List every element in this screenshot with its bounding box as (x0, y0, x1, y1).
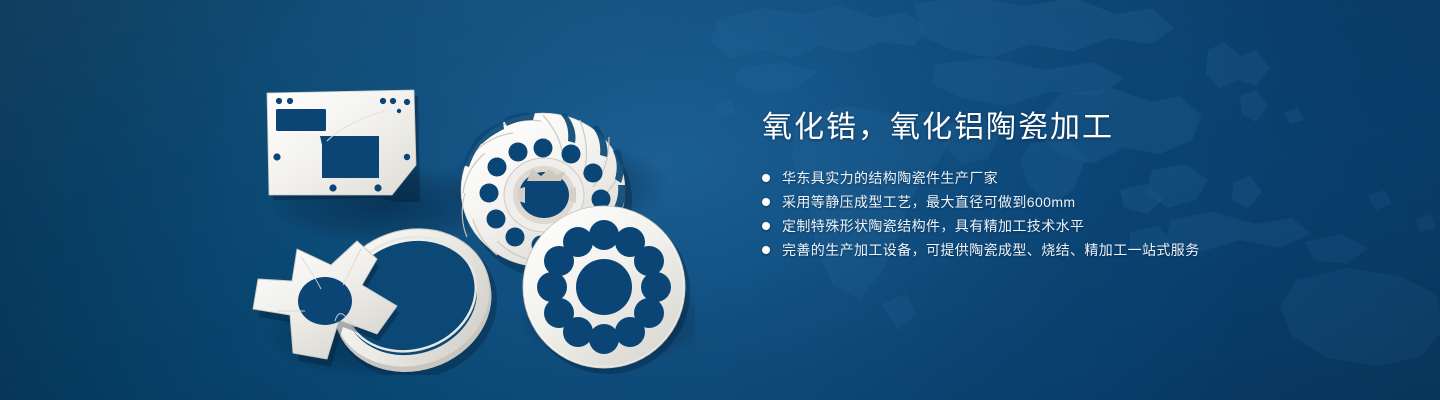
bullet-dot-icon (762, 246, 770, 254)
list-item-label: 华东具实力的结构陶瓷件生产厂家 (782, 166, 998, 190)
bullet-dot-icon (762, 198, 770, 206)
list-item-label: 定制特殊形状陶瓷结构件，具有精加工技术水平 (782, 214, 1084, 238)
promo-banner: 氧化锆，氧化铝陶瓷加工 华东具实力的结构陶瓷件生产厂家 采用等静压成型工艺，最大… (0, 0, 1440, 400)
list-item-label: 采用等静压成型工艺，最大直径可做到600mm (782, 190, 1075, 214)
page-title: 氧化锆，氧化铝陶瓷加工 (762, 108, 1382, 148)
ceramic-plate-part (267, 90, 420, 202)
list-item: 华东具实力的结构陶瓷件生产厂家 (762, 166, 1382, 190)
list-item: 完善的生产加工设备，可提供陶瓷成型、烧结、精加工一站式服务 (762, 238, 1382, 262)
bullet-dot-icon (762, 174, 770, 182)
feature-list: 华东具实力的结构陶瓷件生产厂家 采用等静压成型工艺，最大直径可做到600mm 定… (762, 166, 1382, 262)
bullet-dot-icon (762, 222, 770, 230)
ceramic-products-image (235, 45, 695, 375)
list-item: 定制特殊形状陶瓷结构件，具有精加工技术水平 (762, 214, 1382, 238)
banner-copy: 氧化锆，氧化铝陶瓷加工 华东具实力的结构陶瓷件生产厂家 采用等静压成型工艺，最大… (762, 108, 1382, 262)
list-item: 采用等静压成型工艺，最大直径可做到600mm (762, 190, 1382, 214)
list-item-label: 完善的生产加工设备，可提供陶瓷成型、烧结、精加工一站式服务 (782, 238, 1200, 262)
